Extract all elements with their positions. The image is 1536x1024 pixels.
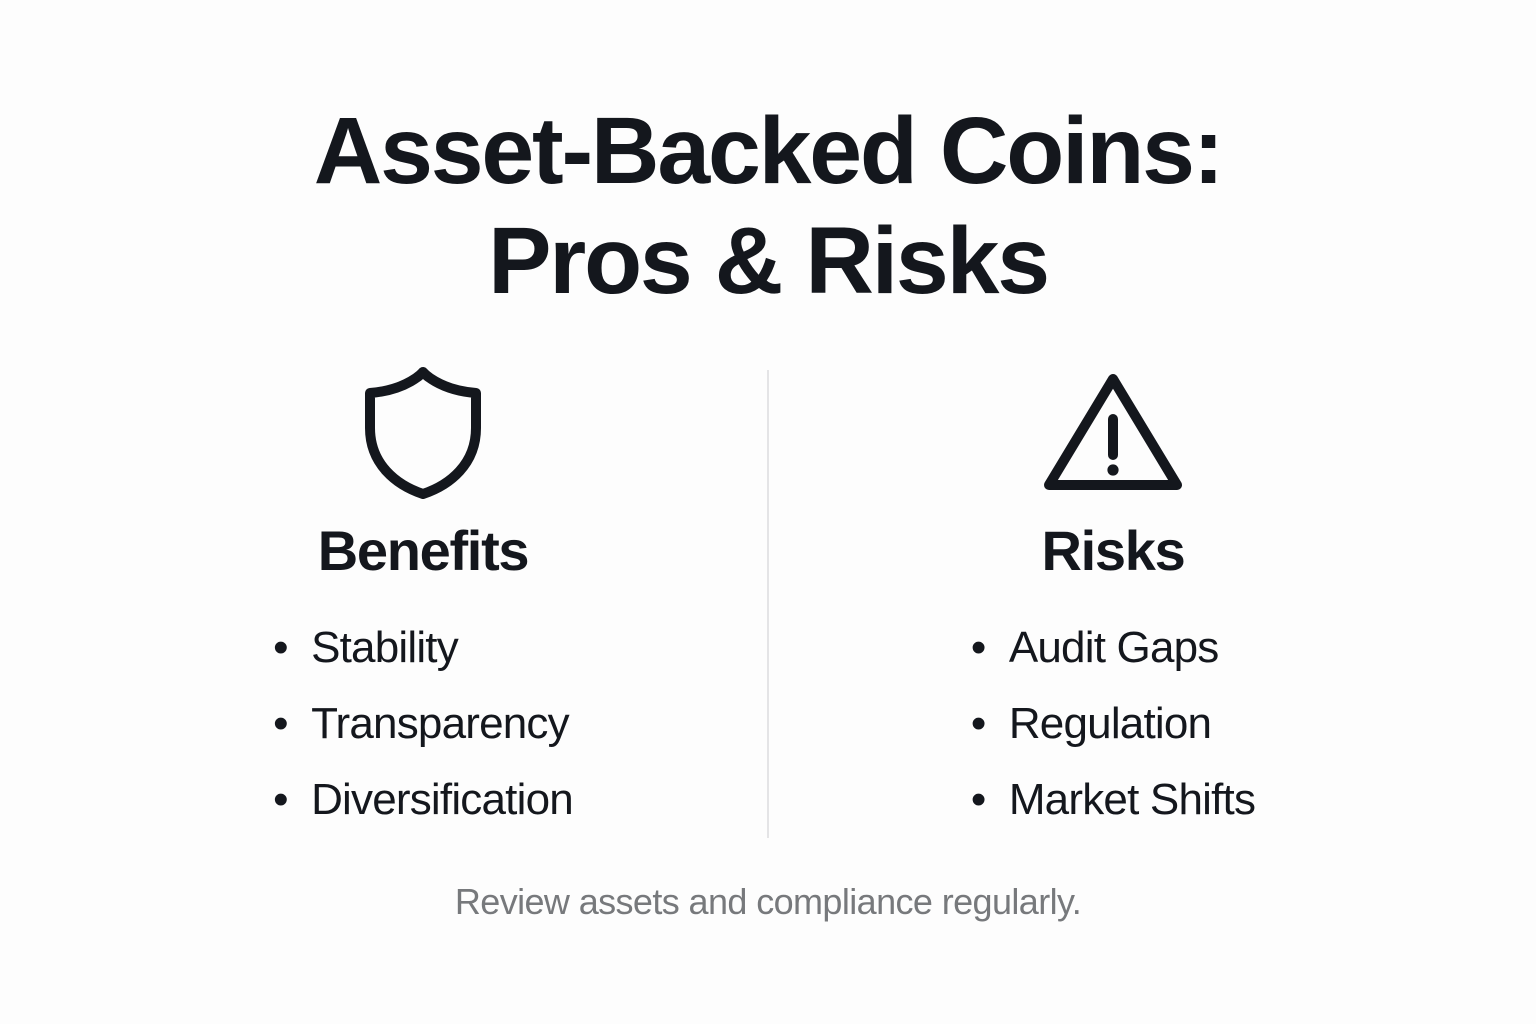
comparison-columns: Benefits • Stability • Transparency • Di… (78, 368, 1458, 838)
risks-column: Risks • Audit Gaps • Regulation • Market… (768, 368, 1458, 838)
risks-list: • Audit Gaps • Regulation • Market Shift… (971, 610, 1255, 838)
bullet-marker: • (273, 610, 311, 686)
title-line-1: Asset-Backed Coins: (178, 96, 1358, 206)
list-item-label: Market Shifts (1009, 762, 1255, 838)
warning-triangle-icon (1040, 368, 1186, 498)
bullet-marker: • (971, 762, 1009, 838)
risks-heading: Risks (1042, 520, 1185, 582)
benefits-list: • Stability • Transparency • Diversifica… (273, 610, 573, 838)
bullet-marker: • (971, 610, 1009, 686)
list-item-label: Diversification (311, 762, 573, 838)
page-title: Asset-Backed Coins: Pros & Risks (178, 96, 1358, 316)
bullet-marker: • (273, 686, 311, 762)
list-item-label: Audit Gaps (1009, 610, 1219, 686)
slide-canvas: Asset-Backed Coins: Pros & Risks Benefit… (0, 0, 1536, 1024)
bullet-marker: • (273, 762, 311, 838)
list-item: • Market Shifts (971, 762, 1255, 838)
bullet-marker: • (971, 686, 1009, 762)
list-item-label: Regulation (1009, 686, 1211, 762)
list-item: • Diversification (273, 762, 573, 838)
benefits-column: Benefits • Stability • Transparency • Di… (78, 368, 768, 838)
benefits-heading: Benefits (318, 520, 529, 582)
list-item: • Audit Gaps (971, 610, 1255, 686)
footer-note: Review assets and compliance regularly. (455, 880, 1081, 924)
list-item: • Transparency (273, 686, 573, 762)
shield-icon (360, 368, 486, 498)
list-item-label: Stability (311, 610, 458, 686)
list-item: • Regulation (971, 686, 1255, 762)
list-item: • Stability (273, 610, 573, 686)
title-line-2: Pros & Risks (178, 206, 1358, 316)
list-item-label: Transparency (311, 686, 569, 762)
column-divider (767, 370, 769, 838)
